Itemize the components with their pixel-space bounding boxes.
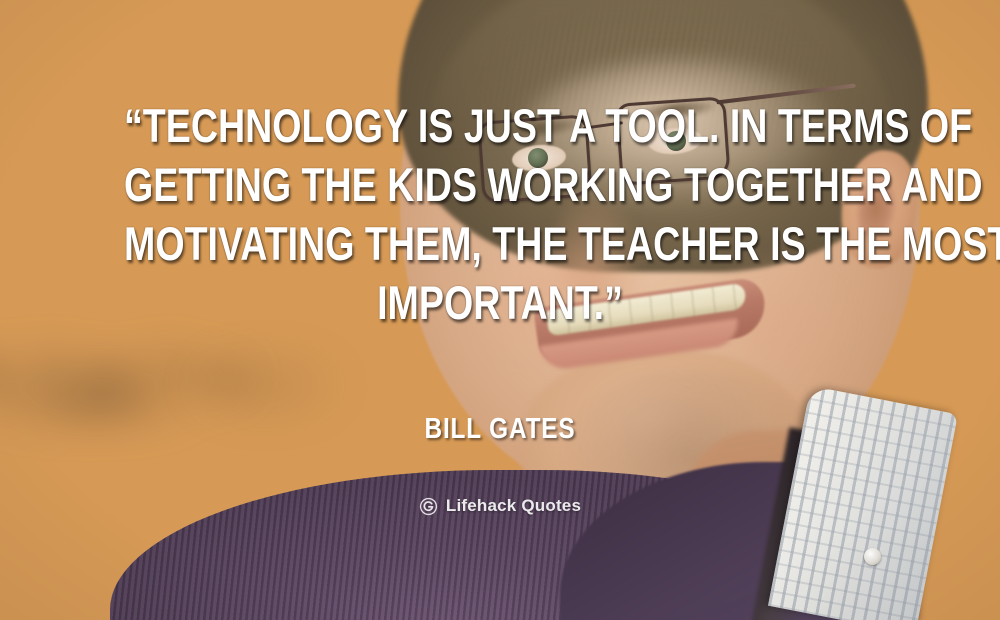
quote-line-1: “TECHNOLOGY IS JUST A TOOL. IN TERMS OF: [124, 96, 876, 155]
quote-line-4: IMPORTANT.”: [124, 273, 876, 332]
watermark-label: Lifehack Quotes: [446, 496, 581, 516]
watermark: Lifehack Quotes: [0, 496, 1000, 516]
text-overlay: “TECHNOLOGY IS JUST A TOOL. IN TERMS OF …: [0, 0, 1000, 620]
quote-author: BILL GATES: [80, 412, 920, 446]
lifehack-circle-logo-icon: [419, 497, 438, 516]
quote-image: “TECHNOLOGY IS JUST A TOOL. IN TERMS OF …: [0, 0, 1000, 620]
quote-line-3: MOTIVATING THEM, THE TEACHER IS THE MOST: [124, 214, 876, 273]
quote-text: “TECHNOLOGY IS JUST A TOOL. IN TERMS OF …: [0, 96, 1000, 332]
quote-line-2: GETTING THE KIDS WORKING TOGETHER AND: [124, 155, 876, 214]
